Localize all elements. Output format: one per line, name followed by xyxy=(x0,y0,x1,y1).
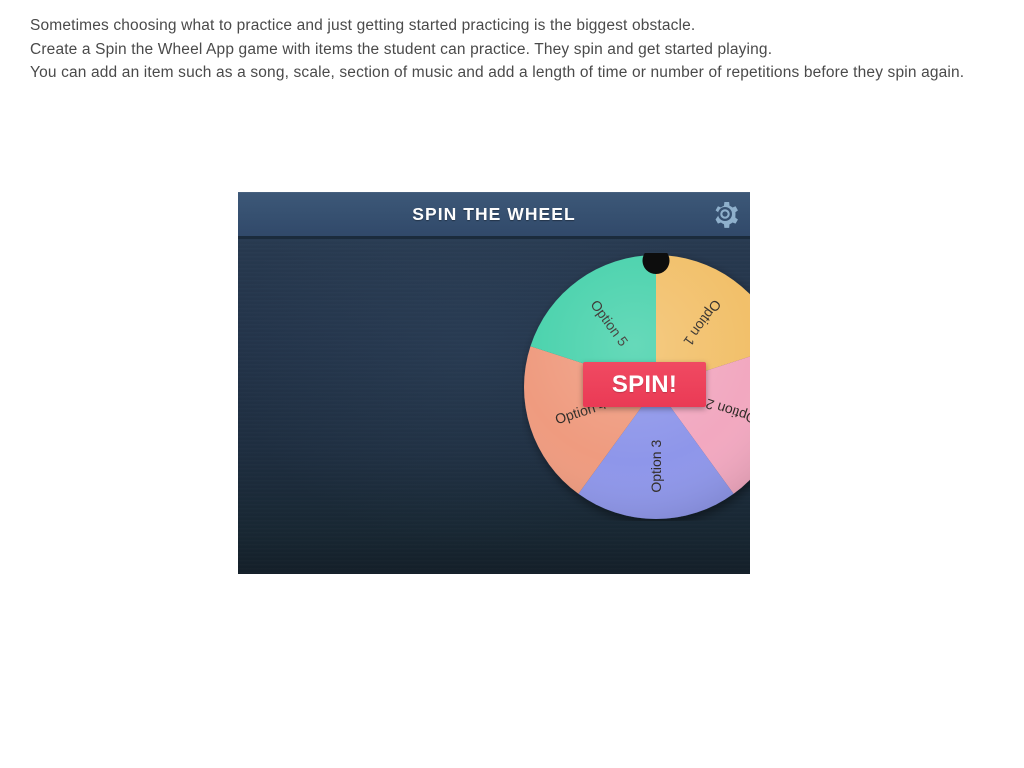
intro-line-3: You can add an item such as a song, scal… xyxy=(30,61,1024,85)
app-title: SPIN THE WHEEL xyxy=(238,192,750,236)
gear-icon[interactable] xyxy=(710,199,740,229)
gear-icon-svg xyxy=(710,199,740,229)
intro-text-block: Sometimes choosing what to practice and … xyxy=(30,14,1024,85)
wheel-area: Option 1Option 2Option 3Option 4Option 5… xyxy=(238,239,750,574)
spin-button[interactable]: SPIN! xyxy=(583,362,706,407)
app-header-bar: SPIN THE WHEEL xyxy=(238,192,750,236)
intro-line-1: Sometimes choosing what to practice and … xyxy=(30,14,1024,38)
intro-line-2: Create a Spin the Wheel App game with it… xyxy=(30,38,1024,62)
spin-the-wheel-app-screenshot: SPIN THE WHEEL xyxy=(238,192,750,574)
